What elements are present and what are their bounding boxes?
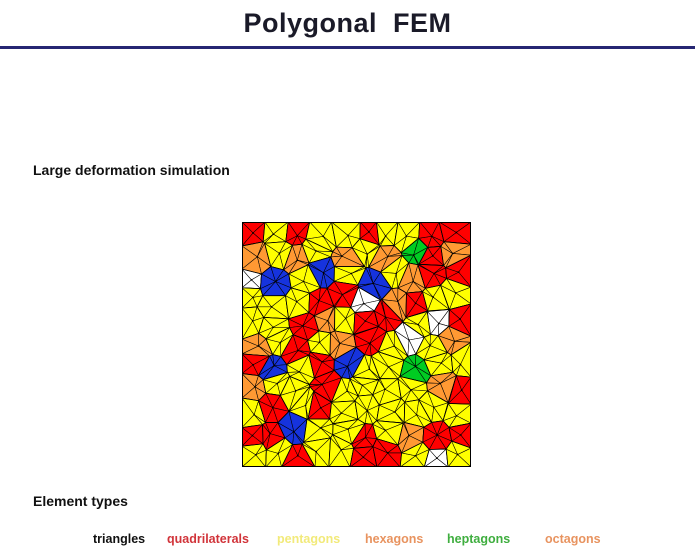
- mesh-node: [320, 407, 322, 409]
- mesh-node: [460, 364, 462, 366]
- mesh-node: [406, 235, 408, 237]
- mesh-node: [297, 350, 299, 352]
- mesh-node: [323, 272, 325, 274]
- mesh-node: [276, 383, 278, 385]
- mesh-node: [272, 233, 274, 235]
- legend-item-pentagons: pentagons: [277, 530, 340, 548]
- mesh-node: [452, 253, 454, 255]
- legend-item-heptagons: heptagons: [447, 530, 510, 548]
- mesh-elements-group: [242, 222, 471, 467]
- mesh-node: [271, 306, 273, 308]
- mesh-node: [342, 294, 344, 296]
- mesh-node: [388, 366, 390, 368]
- mesh-node: [416, 414, 418, 416]
- mesh-node: [322, 236, 324, 238]
- mesh-node: [347, 235, 349, 237]
- element-types-legend: trianglesquadrilateralspentagonshexagons…: [0, 530, 695, 550]
- mesh-node: [346, 390, 348, 392]
- mesh-node: [440, 362, 442, 364]
- mesh-node: [253, 414, 255, 416]
- mesh-node: [305, 405, 307, 407]
- mesh-node: [461, 389, 463, 391]
- legend-item-octagons: octagons: [545, 530, 601, 548]
- mesh-node: [327, 320, 329, 322]
- mesh-node: [433, 406, 435, 408]
- mesh-node: [459, 318, 461, 320]
- mesh-node: [366, 253, 368, 255]
- mesh-node: [385, 430, 387, 432]
- mesh-node: [269, 433, 271, 435]
- mesh-node: [368, 231, 370, 233]
- mesh-node: [254, 386, 256, 388]
- mesh-node: [385, 316, 387, 318]
- mesh-node: [417, 324, 419, 326]
- mesh-node: [280, 342, 282, 344]
- mesh-node: [438, 323, 440, 325]
- mesh-node: [366, 410, 368, 412]
- mesh-node: [458, 271, 460, 273]
- mesh-node: [296, 301, 298, 303]
- mesh-node: [387, 452, 389, 454]
- mesh-node: [394, 411, 396, 413]
- mesh-node: [258, 345, 260, 347]
- mesh-node: [413, 254, 415, 256]
- mesh-node: [341, 412, 343, 414]
- mesh-node: [362, 384, 364, 386]
- legend-item-triangles: triangles: [93, 530, 145, 548]
- mesh-node: [440, 383, 442, 385]
- mesh-node: [369, 368, 371, 370]
- mesh-node: [432, 296, 434, 298]
- mesh-node: [410, 389, 412, 391]
- mesh-node: [295, 390, 297, 392]
- mesh-node: [273, 365, 275, 367]
- mesh-node: [431, 235, 433, 237]
- element-types-section-label: Element types: [33, 493, 128, 509]
- mesh-node: [429, 345, 431, 347]
- mesh-node: [321, 384, 323, 386]
- mesh-node: [252, 320, 254, 322]
- mesh-node: [272, 326, 274, 328]
- mesh-node: [384, 388, 386, 390]
- mesh-node: [272, 407, 274, 409]
- mesh-node: [393, 345, 395, 347]
- mesh-node: [363, 303, 365, 305]
- mesh-node: [275, 281, 277, 283]
- mesh-node: [365, 437, 367, 439]
- mesh-node: [340, 449, 342, 451]
- mesh-node: [415, 455, 417, 457]
- mesh-node: [345, 318, 347, 320]
- mesh-node: [293, 431, 295, 433]
- mesh-node: [460, 434, 462, 436]
- simulation-section-label: Large deformation simulation: [33, 162, 230, 178]
- mesh-node: [456, 415, 458, 417]
- mesh-node: [319, 341, 321, 343]
- mesh-node: [297, 455, 299, 457]
- mesh-node: [415, 366, 417, 368]
- legend-item-hexagons: hexagons: [365, 530, 423, 548]
- mesh-node: [256, 256, 258, 258]
- page-title: Polygonal FEM: [0, 8, 695, 39]
- mesh-node: [255, 454, 257, 456]
- mesh-node: [252, 364, 254, 366]
- mesh-node: [363, 456, 365, 458]
- mesh-node: [318, 300, 320, 302]
- mesh-node: [436, 434, 438, 436]
- mesh-node: [252, 435, 254, 437]
- mesh-node: [320, 427, 322, 429]
- mesh-node: [303, 281, 305, 283]
- mesh-node: [455, 232, 457, 234]
- mesh-node: [252, 297, 254, 299]
- mesh-node: [365, 320, 367, 322]
- mesh-node: [351, 273, 353, 275]
- mesh-node: [252, 232, 254, 234]
- legend-item-quadrilaterals: quadrilaterals: [167, 530, 249, 548]
- mesh-node: [433, 273, 435, 275]
- mesh-node: [296, 235, 298, 237]
- title-divider: [0, 46, 695, 49]
- mesh-node: [251, 279, 253, 281]
- mesh-node: [372, 283, 374, 285]
- mesh-node: [436, 457, 438, 459]
- mesh-node: [299, 371, 301, 373]
- mesh-node: [432, 255, 434, 257]
- mesh-node: [339, 343, 341, 345]
- mesh-node: [395, 273, 397, 275]
- mesh-node: [341, 255, 343, 257]
- mesh-node: [457, 454, 459, 456]
- mesh-node: [296, 259, 298, 261]
- mesh-node: [408, 339, 410, 341]
- mesh-node: [347, 366, 349, 368]
- polygonal-mesh-svg: [242, 222, 471, 467]
- mesh-node: [397, 301, 399, 303]
- mesh-node: [408, 435, 410, 437]
- mesh-node: [369, 342, 371, 344]
- mesh-node: [412, 281, 414, 283]
- mesh-node: [415, 302, 417, 304]
- mesh-node: [302, 325, 304, 327]
- mesh-node: [315, 250, 317, 252]
- mesh-node: [321, 361, 323, 363]
- mesh-node: [277, 452, 279, 454]
- mesh-node: [385, 235, 387, 237]
- mesh-node: [455, 292, 457, 294]
- mesh-node: [387, 256, 389, 258]
- mesh-node: [454, 340, 456, 342]
- polygonal-mesh-figure: [242, 222, 471, 467]
- mesh-node: [347, 428, 349, 430]
- mesh-node: [315, 451, 317, 453]
- mesh-node: [279, 252, 281, 254]
